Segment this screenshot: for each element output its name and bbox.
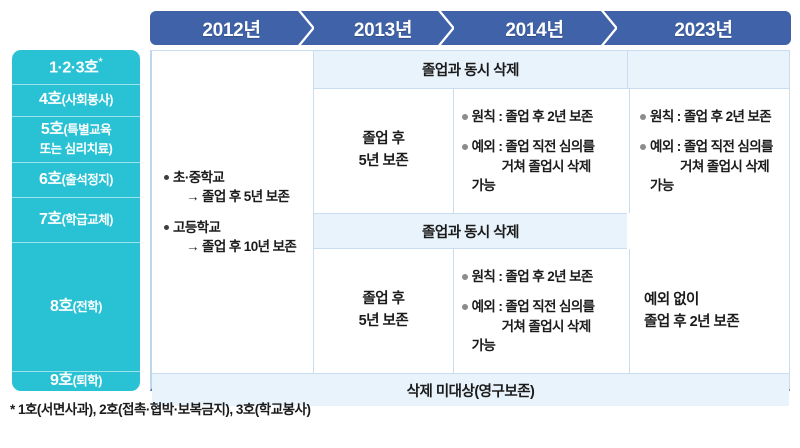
- sidebar-item-ho123-number: 1·2·3호: [49, 60, 98, 77]
- bullet-2014-exception-upper-l1: 예외 : 졸업 직전 심의를: [472, 137, 619, 156]
- bullet-dot-icon: [462, 274, 468, 280]
- bullet-dot-icon: [640, 144, 646, 150]
- sidebar-item-ho9-desc: (퇴학): [73, 374, 102, 388]
- cell-2013-lower-l2: 5년 보존: [359, 311, 409, 333]
- bullet-dot-icon: [462, 144, 468, 150]
- bullet-2014-exception-upper-l2: 거쳐 졸업시 삭제: [472, 157, 619, 176]
- sidebar-item-ho5-desc2: 또는 심리치료): [40, 142, 113, 156]
- sidebar-item-ho8: 8호(전학): [12, 243, 140, 372]
- bullet-dot-icon: [164, 225, 169, 230]
- sidebar-item-ho4: 4호(사회봉사): [12, 85, 140, 117]
- sidebar-item-ho5: 5호(특별교육 또는 심리치료): [12, 117, 140, 163]
- sidebar-item-ho7: 7호(학급교체): [12, 198, 140, 243]
- bullet-2023-principle-upper-text: 원칙 : 졸업 후 2년 보존: [650, 107, 780, 126]
- year-label-2012: 2012년: [202, 15, 260, 42]
- cell-2023-lower-l1: 예외 없이: [644, 289, 776, 311]
- bullet-2023-exception-upper-l2: 거쳐 졸업시 삭제: [650, 157, 780, 176]
- year-header-2012: 2012년: [150, 11, 313, 45]
- chevron-right-icon: [601, 11, 617, 45]
- band-graduation-immediate-delete-mid: 졸업과 동시 삭제: [313, 213, 627, 249]
- cell-2013-lower: 졸업 후 5년 보존: [313, 249, 452, 373]
- bullet-high-school-title: 고등학교: [173, 218, 309, 237]
- sidebar-item-ho5-desc: (특별교육: [63, 123, 111, 137]
- sidebar-item-ho7-desc: (학급교체): [62, 213, 113, 227]
- bullet-elementary-middle: 초·중학교 → 졸업 후 5년 보존: [164, 168, 309, 206]
- cell-2023-upper: 원칙 : 졸업 후 2년 보존 예외 : 졸업 직전 심의를 거쳐 졸업시 삭제…: [629, 89, 790, 213]
- cell-2013-lower-l1: 졸업 후: [359, 289, 409, 311]
- sidebar-item-ho123-star: *: [98, 55, 103, 69]
- bullet-dot-icon: [640, 114, 646, 120]
- bullet-high-school: 고등학교 → 졸업 후 10년 보존: [164, 218, 309, 256]
- bullet-2014-principle-upper-text: 원칙 : 졸업 후 2년 보존: [472, 107, 619, 126]
- sidebar-item-ho7-number: 7호: [39, 211, 62, 228]
- infographic-root: 2012년 2013년 2014년 20: [0, 0, 800, 448]
- bullet-high-school-detail: → 졸업 후 10년 보존: [173, 237, 309, 256]
- bullet-elementary-middle-detail: → 졸업 후 5년 보존: [173, 187, 309, 206]
- bullet-dot-icon: [462, 114, 468, 120]
- year-timeline-header: 2012년 2013년 2014년 20: [150, 11, 791, 45]
- sidebar-item-ho6-number: 6호: [39, 171, 62, 188]
- cell-2014-upper: 원칙 : 졸업 후 2년 보존 예외 : 졸업 직전 심의를 거쳐 졸업시 삭제…: [453, 89, 627, 213]
- bullet-2014-principle-lower-text: 원칙 : 졸업 후 2년 보존: [472, 267, 619, 286]
- bullet-2014-exception-lower: 예외 : 졸업 직전 심의를 거쳐 졸업시 삭제 가능: [462, 297, 619, 354]
- cell-2023-lower: 예외 없이 졸업 후 2년 보존: [629, 249, 790, 373]
- bullet-2014-principle-upper: 원칙 : 졸업 후 2년 보존: [462, 107, 619, 126]
- bullet-dot-icon: [462, 304, 468, 310]
- cell-2013-upper: 졸업 후 5년 보존: [313, 89, 452, 213]
- band-graduation-immediate-delete-top: 졸업과 동시 삭제: [313, 51, 627, 89]
- cell-2013-upper-l2: 5년 보존: [359, 151, 409, 173]
- cell-2023-band-top-spacer: [627, 51, 789, 89]
- retention-policy-table: 초·중학교 → 졸업 후 5년 보존 고등학교 → 졸업 후 10년 보존 원칙…: [150, 50, 790, 391]
- chevron-right-icon: [438, 11, 454, 45]
- bullet-2014-principle-lower: 원칙 : 졸업 후 2년 보존: [462, 267, 619, 286]
- bullet-2023-principle-upper: 원칙 : 졸업 후 2년 보존: [640, 107, 780, 126]
- measure-type-sidebar: 1·2·3호* 4호(사회봉사) 5호(특별교육 또는 심리치료) 6호(출석정…: [12, 50, 140, 391]
- sidebar-item-ho6-desc: (출석정지): [62, 173, 113, 187]
- sidebar-item-ho4-desc: (사회봉사): [62, 93, 113, 107]
- year-label-2014: 2014년: [505, 15, 563, 42]
- year-header-2014: 2014년: [453, 11, 616, 45]
- bullet-dot-icon: [164, 175, 169, 180]
- sidebar-item-ho4-number: 4호: [39, 91, 62, 108]
- sidebar-item-ho123: 1·2·3호*: [12, 50, 140, 85]
- bullet-2023-exception-upper-l3: 가능: [650, 176, 780, 195]
- sidebar-item-ho5-number: 5호: [41, 121, 64, 138]
- cell-2023-lower-l2: 졸업 후 2년 보존: [644, 311, 776, 333]
- bullet-2014-exception-lower-l1: 예외 : 졸업 직전 심의를: [472, 297, 619, 316]
- chevron-right-icon: [298, 11, 314, 45]
- sidebar-item-ho9: 9호(퇴학): [12, 372, 140, 391]
- cell-2013-upper-l1: 졸업 후: [359, 129, 409, 151]
- bullet-2014-exception-lower-l2: 거쳐 졸업시 삭제: [472, 317, 619, 336]
- bullet-2014-exception-upper: 예외 : 졸업 직전 심의를 거쳐 졸업시 삭제 가능: [462, 137, 619, 194]
- bullet-2014-exception-lower-l3: 가능: [472, 336, 619, 355]
- footnote: * 1호(서면사과), 2호(접촉·협박·보복금지), 3호(학교봉사): [10, 398, 310, 418]
- sidebar-item-ho8-number: 8호: [50, 298, 73, 315]
- year-header-2013: 2013년: [313, 11, 453, 45]
- year-header-2023: 2023년: [616, 11, 791, 45]
- bullet-elementary-middle-title: 초·중학교: [173, 168, 309, 187]
- bullet-2023-exception-upper-l1: 예외 : 졸업 직전 심의를: [650, 137, 780, 156]
- cell-2014-lower: 원칙 : 졸업 후 2년 보존 예외 : 졸업 직전 심의를 거쳐 졸업시 삭제…: [453, 249, 627, 373]
- sidebar-item-ho6: 6호(출석정지): [12, 163, 140, 198]
- bullet-2014-exception-upper-l3: 가능: [472, 176, 619, 195]
- year-label-2023: 2023년: [674, 15, 732, 42]
- cell-2012-retention: 초·중학교 → 졸업 후 5년 보존 고등학교 → 졸업 후 10년 보존: [152, 51, 314, 373]
- sidebar-item-ho9-number: 9호: [50, 372, 73, 389]
- bullet-2023-exception-upper: 예외 : 졸업 직전 심의를 거쳐 졸업시 삭제 가능: [640, 137, 780, 194]
- year-label-2013: 2013년: [354, 15, 412, 42]
- sidebar-item-ho8-desc: (전학): [73, 300, 102, 314]
